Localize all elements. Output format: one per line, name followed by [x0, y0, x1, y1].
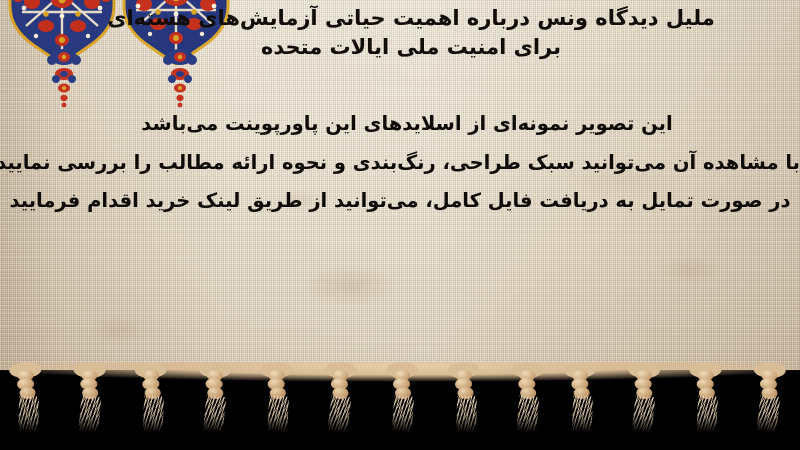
slide-canvas: ملیل دیدگاه ونس درباره اهمیت حیاتی آزمای… — [0, 0, 800, 450]
fringe-brush — [456, 396, 477, 432]
fringe-brush — [516, 395, 539, 433]
carpet-fringe-tassel — [692, 368, 719, 436]
slide-text-layer: ملیل دیدگاه ونس درباره اهمیت حیاتی آزمای… — [0, 0, 800, 382]
fringe-brush — [79, 395, 102, 433]
carpet-fringe-tassel — [12, 367, 42, 436]
fringe-brush — [267, 395, 289, 432]
carpet-fringe-tassel — [263, 368, 290, 436]
carpet-fringe-tassel — [389, 368, 415, 436]
carpet-fringe-tassel — [513, 368, 540, 436]
fringe-brush — [328, 395, 352, 433]
fringe-brush — [203, 395, 227, 433]
carpet-fringe-tassel — [76, 368, 103, 436]
slide-title-line-1: ملیل دیدگاه ونس درباره اهمیت حیاتی آزمای… — [0, 4, 800, 33]
carpet-fringe-tassel — [325, 367, 355, 436]
slide-body-text: این تصویر نمونه‌ای از اسلایدهای این پاور… — [0, 108, 800, 211]
fringe-brush — [696, 395, 718, 432]
fringe-brush — [18, 396, 39, 432]
fringe-brush — [392, 395, 414, 432]
body-line-1: این تصویر نمونه‌ای از اسلایدهای این پاور… — [0, 114, 800, 134]
carpet-fringe-tassel — [450, 367, 480, 436]
fringe-brush — [571, 396, 592, 433]
carpet-fringe-tassel — [200, 368, 228, 437]
slide-title-line-2: برای امنیت ملی ایالات متحده — [0, 33, 800, 62]
carpet-fringe-tassel — [138, 368, 166, 437]
fringe-brush — [756, 395, 780, 433]
slide-title: ملیل دیدگاه ونس درباره اهمیت حیاتی آزمای… — [0, 4, 800, 62]
carpet-fringe-row — [0, 368, 800, 438]
body-line-3: در صورت تمایل به دریافت فایل کامل، می‌تو… — [0, 191, 800, 211]
carpet-fringe-tassel — [753, 367, 783, 436]
body-line-2: با مشاهده آن می‌توانید سبک طراحی، رنگ‌بن… — [0, 153, 800, 173]
fringe-brush — [143, 396, 164, 433]
carpet-fringe-tassel — [566, 368, 594, 437]
fringe-brush — [632, 395, 656, 433]
carpet-fringe-tassel — [629, 368, 657, 437]
